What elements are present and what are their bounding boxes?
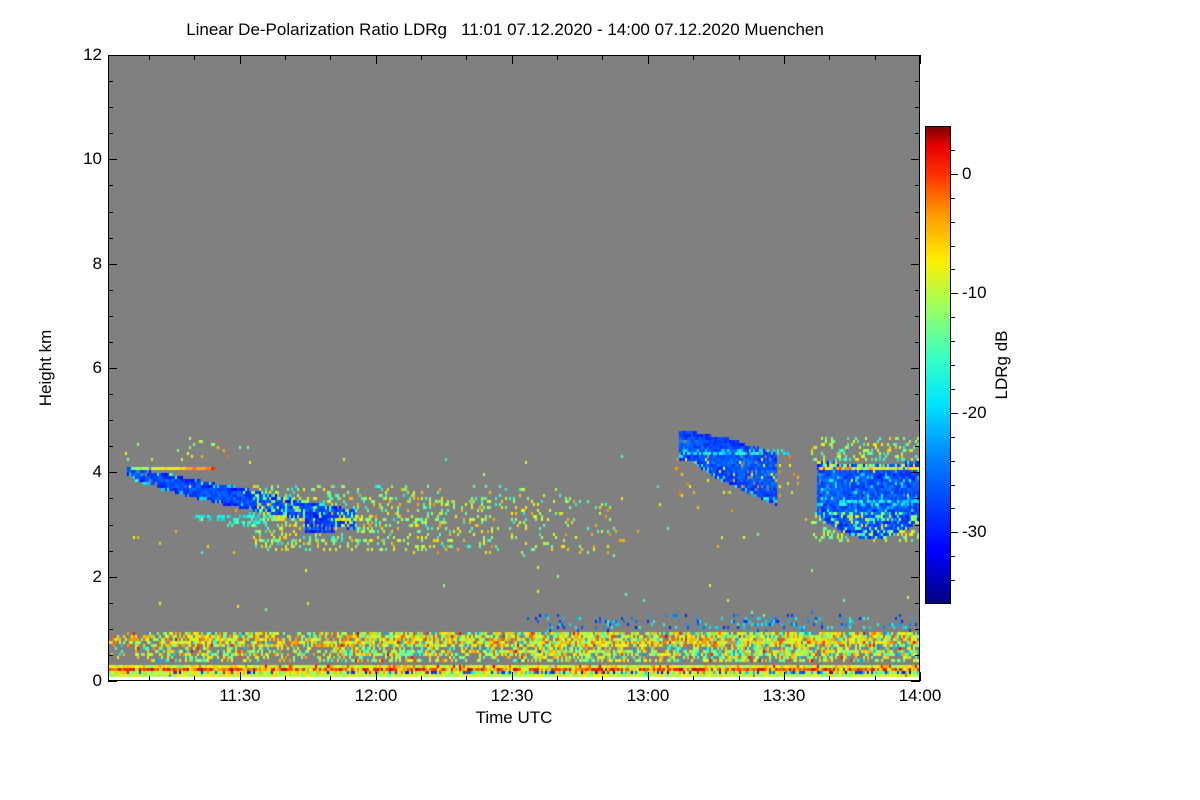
y-tick-minor: [108, 525, 113, 526]
colorbar-tick-major: [951, 413, 958, 414]
y-tick-major: [108, 577, 117, 578]
colorbar-tick-minor: [951, 508, 955, 509]
y-axis-tick-label: 12: [58, 45, 102, 65]
colorbar-tick-label: 0: [962, 164, 971, 184]
y-tick-minor-right: [915, 238, 920, 239]
x-tick-minor-top: [149, 55, 150, 60]
y-tick-major-right: [911, 159, 920, 160]
y-tick-minor: [108, 238, 113, 239]
y-axis-tick-label: 4: [58, 462, 102, 482]
x-tick-major-top: [648, 55, 649, 64]
x-axis-tick-label: 14:00: [899, 686, 942, 706]
colorbar-tick-label: -20: [962, 403, 987, 423]
y-tick-minor-right: [915, 81, 920, 82]
y-tick-minor: [108, 551, 113, 552]
x-tick-minor-top: [330, 55, 331, 60]
x-tick-major: [920, 672, 921, 681]
y-tick-major-right: [911, 264, 920, 265]
plot-title: Linear De-Polarization Ratio LDRg 11:01 …: [0, 20, 1010, 40]
y-tick-major-right: [911, 55, 920, 56]
x-tick-minor: [194, 676, 195, 681]
y-tick-minor: [108, 498, 113, 499]
x-tick-major-top: [784, 55, 785, 64]
y-tick-minor: [108, 603, 113, 604]
y-axis-title: Height km: [36, 330, 56, 407]
x-tick-minor-top: [466, 55, 467, 60]
colorbar-tick-minor: [951, 198, 955, 199]
x-tick-minor-top: [739, 55, 740, 60]
x-tick-major: [648, 672, 649, 681]
colorbar-tick-minor: [951, 317, 955, 318]
x-tick-minor-top: [693, 55, 694, 60]
x-tick-minor: [829, 676, 830, 681]
x-tick-major: [376, 672, 377, 681]
x-tick-minor-top: [875, 55, 876, 60]
x-tick-minor-top: [285, 55, 286, 60]
y-tick-minor-right: [915, 629, 920, 630]
y-axis-tick-label: 10: [58, 149, 102, 169]
colorbar-tick-major: [951, 532, 958, 533]
y-tick-minor-right: [915, 133, 920, 134]
y-tick-major: [108, 368, 117, 369]
colorbar-tick-minor: [951, 437, 955, 438]
colorbar[interactable]: [925, 126, 951, 604]
x-tick-major: [512, 672, 513, 681]
y-tick-minor-right: [915, 603, 920, 604]
colorbar-tick-minor: [951, 341, 955, 342]
x-tick-major-top: [920, 55, 921, 64]
y-tick-minor-right: [915, 446, 920, 447]
y-tick-minor: [108, 185, 113, 186]
x-tick-minor-top: [557, 55, 558, 60]
x-tick-major-top: [512, 55, 513, 64]
colorbar-tick-minor: [951, 556, 955, 557]
y-tick-minor-right: [915, 394, 920, 395]
x-tick-minor: [330, 676, 331, 681]
y-tick-minor: [108, 107, 113, 108]
colorbar-tick-minor: [951, 222, 955, 223]
colorbar-tick-minor: [951, 485, 955, 486]
colorbar-tick-minor: [951, 246, 955, 247]
colorbar-title: LDRg dB: [992, 331, 1012, 400]
y-tick-minor-right: [915, 655, 920, 656]
colorbar-tick-label: -10: [962, 283, 987, 303]
y-axis-title-anchor: Height km: [50, 0, 51, 1]
x-tick-minor: [602, 676, 603, 681]
y-tick-minor: [108, 133, 113, 134]
x-tick-major: [784, 672, 785, 681]
x-tick-minor: [466, 676, 467, 681]
y-tick-minor: [108, 655, 113, 656]
x-tick-minor-top: [602, 55, 603, 60]
y-tick-minor: [108, 81, 113, 82]
y-tick-minor: [108, 394, 113, 395]
y-tick-major: [108, 159, 117, 160]
colorbar-tick-label: -30: [962, 522, 987, 542]
radar-heatmap-canvas[interactable]: [109, 56, 919, 680]
y-tick-major: [108, 681, 117, 682]
colorbar-gradient: [926, 127, 950, 603]
colorbar-tick-minor: [951, 461, 955, 462]
x-tick-minor: [739, 676, 740, 681]
y-tick-minor-right: [915, 107, 920, 108]
y-tick-major-right: [911, 681, 920, 682]
x-axis-tick-label: 11:30: [219, 686, 260, 706]
x-tick-minor-top: [421, 55, 422, 60]
y-tick-minor-right: [915, 551, 920, 552]
y-tick-major-right: [911, 368, 920, 369]
x-axis-tick-label: 12:00: [355, 686, 398, 706]
plot-area[interactable]: [108, 55, 920, 681]
x-tick-major: [240, 672, 241, 681]
x-tick-minor: [285, 676, 286, 681]
x-axis-tick-label: 12:30: [491, 686, 534, 706]
y-axis-tick-label: 8: [58, 254, 102, 274]
y-tick-minor: [108, 212, 113, 213]
colorbar-tick-minor: [951, 150, 955, 151]
colorbar-tick-minor: [951, 580, 955, 581]
x-tick-minor: [149, 676, 150, 681]
y-axis-tick-label: 2: [58, 567, 102, 587]
x-axis-tick-label: 13:00: [627, 686, 670, 706]
y-tick-minor: [108, 629, 113, 630]
x-tick-minor: [557, 676, 558, 681]
y-tick-minor-right: [915, 342, 920, 343]
y-tick-major: [108, 472, 117, 473]
y-tick-minor-right: [915, 212, 920, 213]
x-tick-minor: [421, 676, 422, 681]
y-tick-major: [108, 264, 117, 265]
x-tick-minor: [875, 676, 876, 681]
y-tick-minor-right: [915, 185, 920, 186]
x-tick-minor-top: [829, 55, 830, 60]
y-tick-major-right: [911, 472, 920, 473]
colorbar-tick-minor: [951, 269, 955, 270]
x-tick-major-top: [376, 55, 377, 64]
colorbar-tick-minor: [951, 389, 955, 390]
y-tick-minor-right: [915, 290, 920, 291]
colorbar-tick-major: [951, 293, 958, 294]
y-tick-minor: [108, 342, 113, 343]
y-tick-minor: [108, 446, 113, 447]
y-tick-minor-right: [915, 498, 920, 499]
y-tick-minor: [108, 316, 113, 317]
y-tick-minor: [108, 290, 113, 291]
y-axis-tick-label: 0: [58, 671, 102, 691]
x-tick-minor-top: [194, 55, 195, 60]
y-tick-major: [108, 55, 117, 56]
y-tick-minor-right: [915, 316, 920, 317]
colorbar-gradient-frame: [925, 126, 951, 604]
colorbar-tick-major: [951, 174, 958, 175]
x-tick-minor: [693, 676, 694, 681]
x-tick-major-top: [240, 55, 241, 64]
y-tick-minor: [108, 420, 113, 421]
y-axis-tick-label: 6: [58, 358, 102, 378]
figure-canvas: Linear De-Polarization Ratio LDRg 11:01 …: [0, 0, 1200, 800]
y-tick-minor-right: [915, 420, 920, 421]
y-tick-major-right: [911, 577, 920, 578]
x-axis-title: Time UTC: [476, 708, 553, 728]
x-axis-tick-label: 13:30: [763, 686, 806, 706]
y-tick-minor-right: [915, 525, 920, 526]
colorbar-tick-minor: [951, 365, 955, 366]
